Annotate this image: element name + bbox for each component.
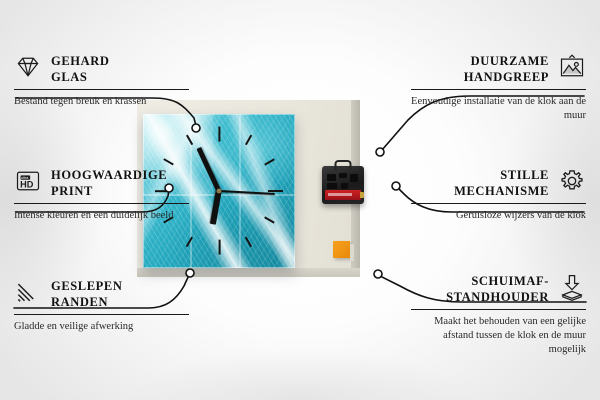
feature-gehard-glas[interactable]: GEHARD GLAS Bestand tegen breuk en krass… xyxy=(14,52,189,109)
ultra-hd-icon: ultra HD xyxy=(14,167,42,195)
clock-minute-hand xyxy=(196,146,221,192)
feature-title: SCHUIMAF- STANDHOUDER xyxy=(446,272,549,305)
feature-divider xyxy=(14,203,189,204)
ultra-hd-icon-large-text: HD xyxy=(20,180,34,190)
feature-header: DUURZAME HANDGREEP xyxy=(411,52,586,85)
feature-stille-mechanisme[interactable]: STILLE MECHANISME Geruisloze wijzers van… xyxy=(411,166,586,223)
feature-divider xyxy=(411,309,586,310)
feature-geslepen-randen[interactable]: GESLEPEN RANDEN Gladde en veilige afwerk… xyxy=(14,277,189,334)
press-pad-icon xyxy=(558,273,586,301)
feature-divider xyxy=(14,89,189,90)
gear-icon xyxy=(558,167,586,195)
picture-frame-icon xyxy=(558,53,586,81)
feature-header: GESLEPEN RANDEN xyxy=(14,277,189,310)
wire-endpoint-dot xyxy=(392,182,400,190)
clock-tick xyxy=(163,158,173,165)
clock-hand-hub xyxy=(217,189,222,194)
feature-hoogwaardige-print[interactable]: ultra HD HOOGWAARDIGE PRINT Intense kleu… xyxy=(14,166,189,223)
battery-positive-tip xyxy=(360,192,364,198)
feature-description: Maakt het behouden van een gelijke afsta… xyxy=(411,315,586,358)
feature-header: ultra HD HOOGWAARDIGE PRINT xyxy=(14,166,189,199)
clock-tick xyxy=(245,236,252,246)
clock-tick xyxy=(186,236,193,246)
wire-endpoint-dot xyxy=(376,148,384,156)
clock-tick xyxy=(218,240,220,255)
clock-tick xyxy=(218,127,220,142)
feature-duurzame-handgreep[interactable]: DUURZAME HANDGREEP Eenvoudige installati… xyxy=(411,52,586,123)
foam-spacer-pad xyxy=(333,241,350,258)
feature-title: STILLE MECHANISME xyxy=(454,166,549,199)
feature-title: GEHARD GLAS xyxy=(51,52,109,85)
battery-label-stripe xyxy=(328,193,352,196)
clock-second-hand xyxy=(219,190,275,195)
feature-description: Gladde en veilige afwerking xyxy=(14,320,189,334)
feature-description: Eenvoudige installatie van de klok aan d… xyxy=(411,95,586,123)
infographic-canvas: GEHARD GLAS Bestand tegen breuk en krass… xyxy=(0,0,600,400)
diamond-icon xyxy=(14,53,42,81)
clock-movement xyxy=(322,166,364,204)
feature-divider xyxy=(411,203,586,204)
feature-schuimaf-standhouder[interactable]: SCHUIMAF- STANDHOUDER Maakt het behouden… xyxy=(411,272,586,358)
movement-hanger-hook xyxy=(335,160,352,170)
feature-title: HOOGWAARDIGE PRINT xyxy=(51,166,167,199)
movement-slot xyxy=(327,174,336,181)
feature-divider xyxy=(411,89,586,90)
clock-tick xyxy=(264,158,274,165)
feature-title: DUURZAME HANDGREEP xyxy=(464,52,549,85)
clock-hour-hand xyxy=(210,191,221,225)
movement-slot xyxy=(327,183,337,189)
feature-title: GESLEPEN RANDEN xyxy=(51,277,123,310)
feature-divider xyxy=(14,314,189,315)
wire-endpoint-dot xyxy=(374,270,382,278)
beveled-edges-icon xyxy=(14,278,42,306)
clock-tick xyxy=(264,217,274,224)
movement-slot xyxy=(350,174,358,182)
feature-header: STILLE MECHANISME xyxy=(411,166,586,199)
feature-header: SCHUIMAF- STANDHOUDER xyxy=(411,272,586,305)
movement-slot xyxy=(339,173,347,178)
movement-slot xyxy=(341,183,348,189)
clock-tick xyxy=(186,135,193,145)
feature-description: Bestand tegen breuk en krassen xyxy=(14,95,189,109)
feature-header: GEHARD GLAS xyxy=(14,52,189,85)
aa-battery xyxy=(325,190,361,200)
feature-description: Geruisloze wijzers van de klok xyxy=(411,209,586,223)
feature-description: Intense kleuren en een duidelijk beeld xyxy=(14,209,189,223)
wall-floor-line xyxy=(137,268,360,277)
clock-tick xyxy=(245,135,252,145)
